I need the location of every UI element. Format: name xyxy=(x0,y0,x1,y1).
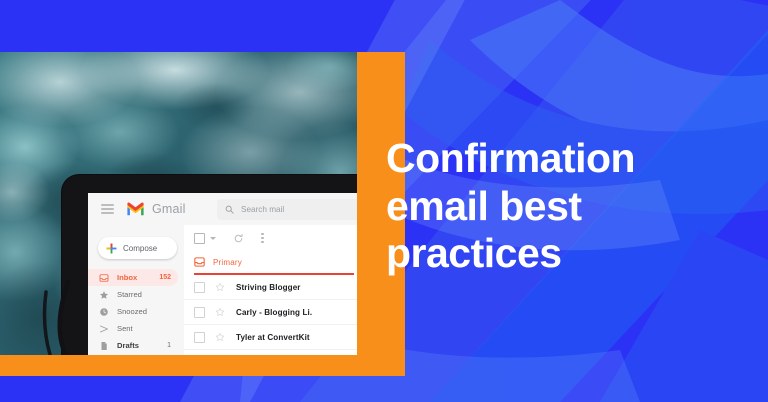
search-input[interactable]: Search mail xyxy=(217,199,357,220)
star-outline-icon[interactable] xyxy=(215,307,225,317)
list-tabs: Primary xyxy=(184,251,357,275)
gmail-app: Gmail Search mail xyxy=(88,193,357,370)
star-icon xyxy=(99,290,109,300)
banner-canvas: Gmail Search mail xyxy=(0,0,768,402)
select-all-checkbox[interactable] xyxy=(194,233,205,244)
sidebar-item-drafts-label: Drafts xyxy=(117,341,159,350)
plus-icon xyxy=(106,243,117,254)
message-checkbox[interactable] xyxy=(194,332,205,343)
compose-button[interactable]: Compose xyxy=(98,237,177,259)
page-title: Confirmation email best practices xyxy=(386,135,716,278)
search-icon xyxy=(225,205,234,214)
gmail-topbar: Gmail Search mail xyxy=(88,193,357,225)
laptop-device: Gmail Search mail xyxy=(62,175,357,370)
message-checkbox[interactable] xyxy=(194,282,205,293)
kebab-menu-icon[interactable] xyxy=(261,233,264,244)
tab-active-underline xyxy=(194,273,354,275)
message-checkbox[interactable] xyxy=(194,307,205,318)
sidebar-item-starred[interactable]: Starred xyxy=(88,286,178,303)
message-sender: Tyler at ConvertKit xyxy=(236,333,310,342)
tab-primary-label: Primary xyxy=(213,258,242,267)
drafts-icon xyxy=(99,341,109,351)
headline-line-2: email best xyxy=(386,183,716,231)
inbox-tab-icon xyxy=(194,257,205,267)
hero-photo: Gmail Search mail xyxy=(0,52,357,370)
headline-line-1: Confirmation xyxy=(386,135,716,183)
clock-icon xyxy=(99,307,109,317)
gmail-m-icon xyxy=(126,202,145,216)
sidebar-item-inbox[interactable]: Inbox 152 xyxy=(88,269,178,286)
hamburger-icon[interactable] xyxy=(101,204,114,214)
sidebar-item-inbox-count: 152 xyxy=(159,274,171,281)
orange-accent-bar xyxy=(0,355,405,376)
inbox-icon xyxy=(99,273,109,283)
sidebar-item-snoozed[interactable]: Snoozed xyxy=(88,303,178,320)
message-row[interactable]: Tyler at ConvertKit xyxy=(184,325,357,350)
list-toolbar xyxy=(184,225,357,251)
sidebar-item-sent[interactable]: Sent xyxy=(88,320,178,337)
sidebar-item-drafts[interactable]: Drafts 1 xyxy=(88,337,178,354)
message-row[interactable]: Striving Blogger xyxy=(184,275,357,300)
gmail-brand-label: Gmail xyxy=(152,202,186,216)
send-icon xyxy=(99,324,109,334)
search-placeholder: Search mail xyxy=(241,205,284,214)
compose-label: Compose xyxy=(123,244,157,253)
device-screen: Gmail Search mail xyxy=(88,193,357,370)
headline-line-3: practices xyxy=(386,230,716,278)
star-outline-icon[interactable] xyxy=(215,282,225,292)
sidebar-item-drafts-count: 1 xyxy=(167,342,171,349)
sidebar-item-snoozed-label: Snoozed xyxy=(117,307,163,316)
gmail-message-list: Primary Striving Blogger xyxy=(184,225,357,370)
message-sender: Striving Blogger xyxy=(236,283,301,292)
chevron-down-icon[interactable] xyxy=(210,237,216,240)
refresh-icon[interactable] xyxy=(233,233,244,244)
sidebar-item-sent-label: Sent xyxy=(117,324,163,333)
sidebar-nav: Inbox 152 Starred xyxy=(88,269,184,354)
sidebar-item-starred-label: Starred xyxy=(117,290,163,299)
tab-primary[interactable]: Primary xyxy=(184,251,357,273)
sidebar-item-inbox-label: Inbox xyxy=(117,273,151,282)
message-row[interactable]: Carly - Blogging Li. xyxy=(184,300,357,325)
star-outline-icon[interactable] xyxy=(215,332,225,342)
message-sender: Carly - Blogging Li. xyxy=(236,308,312,317)
gmail-logo: Gmail xyxy=(126,202,186,216)
gmail-sidebar: Compose Inbox 152 xyxy=(88,225,184,370)
